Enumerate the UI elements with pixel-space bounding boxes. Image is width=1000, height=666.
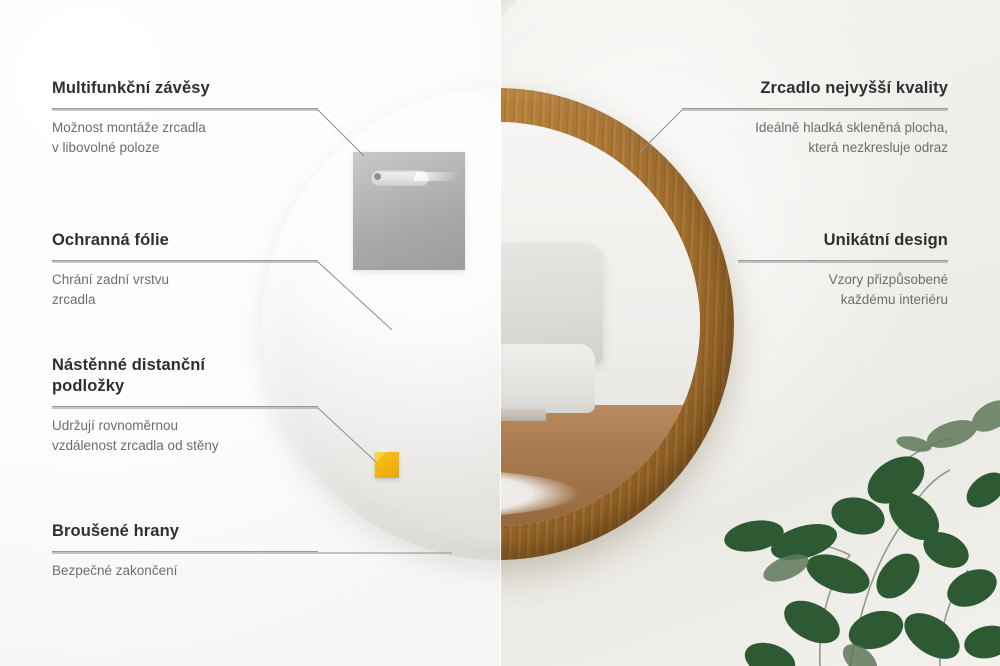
callout-title: Ochranná fólie: [52, 230, 318, 251]
callout-description: Ideálně hladká skleněná plocha, která ne…: [682, 118, 948, 157]
callout-rule: [52, 260, 318, 261]
callout-description: Bezpečné zakončení: [52, 561, 318, 581]
leaves-icon: [700, 330, 1000, 666]
hanging-plate: [353, 152, 465, 270]
callout-rule: [52, 108, 318, 109]
callout-title: Unikátní design: [738, 230, 948, 251]
callout-rule: [52, 551, 318, 552]
callout-description: Vzory přizpůsobené každému interiéru: [738, 270, 948, 309]
callout-title-line2: podložky: [52, 377, 124, 395]
callout-rule: [738, 260, 948, 261]
callout-description: Chrání zadní vrstvu zrcadla: [52, 270, 318, 309]
callout-multifunkcni-zavesy: Multifunkční závěsy Možnost montáže zrca…: [52, 78, 318, 157]
callout-description-line1: Vzory přizpůsobené: [829, 272, 948, 287]
callout-description-line2: zrcadla: [52, 292, 96, 307]
callout-zrcadlo-nejvyssi-kvality: Zrcadlo nejvyšší kvality Ideálně hladká …: [682, 78, 948, 157]
infographic-canvas: Multifunkční závěsy Možnost montáže zrca…: [0, 0, 1000, 666]
callout-rule: [682, 108, 948, 109]
callout-description-line2: každému interiéru: [841, 292, 948, 307]
callout-description: Udržují rovnoměrnou vzdálenost zrcadla o…: [52, 416, 318, 455]
callout-description: Možnost montáže zrcadla v libovolné polo…: [52, 118, 318, 157]
callout-ochranna-folie: Ochranná fólie Chrání zadní vrstvu zrcad…: [52, 230, 318, 309]
callout-description-line2: která nezkresluje odraz: [808, 140, 948, 155]
plant-foliage: [700, 330, 1000, 666]
panel-divider: [500, 0, 501, 666]
callout-description-line2: v libovolné poloze: [52, 140, 159, 155]
wall-spacer-pad: [375, 452, 399, 478]
callout-title: Multifunkční závěsy: [52, 78, 318, 99]
callout-description-line1: Bezpečné zakončení: [52, 563, 177, 578]
hanging-plate-hole: [374, 173, 381, 180]
callout-description-line1: Možnost montáže zrcadla: [52, 120, 206, 135]
callout-title: Zrcadlo nejvyšší kvality: [682, 78, 948, 99]
callout-title: Nástěnné distanční podložky: [52, 355, 318, 397]
callout-brousene-hrany: Broušené hrany Bezpečné zakončení: [52, 521, 318, 581]
callout-description-line2: vzdálenost zrcadla od stěny: [52, 438, 219, 453]
callout-rule: [52, 406, 318, 407]
callout-description-line1: Ideálně hladká skleněná plocha,: [755, 120, 948, 135]
callout-description-line1: Chrání zadní vrstvu: [52, 272, 169, 287]
callout-title-line1: Nástěnné distanční: [52, 356, 205, 374]
callout-title: Broušené hrany: [52, 521, 318, 542]
callout-nastenne-distancni-podlozky: Nástěnné distanční podložky Udržují rovn…: [52, 355, 318, 455]
callout-description-line1: Udržují rovnoměrnou: [52, 418, 178, 433]
callout-unikatni-design: Unikátní design Vzory přizpůsobené každé…: [738, 230, 948, 309]
